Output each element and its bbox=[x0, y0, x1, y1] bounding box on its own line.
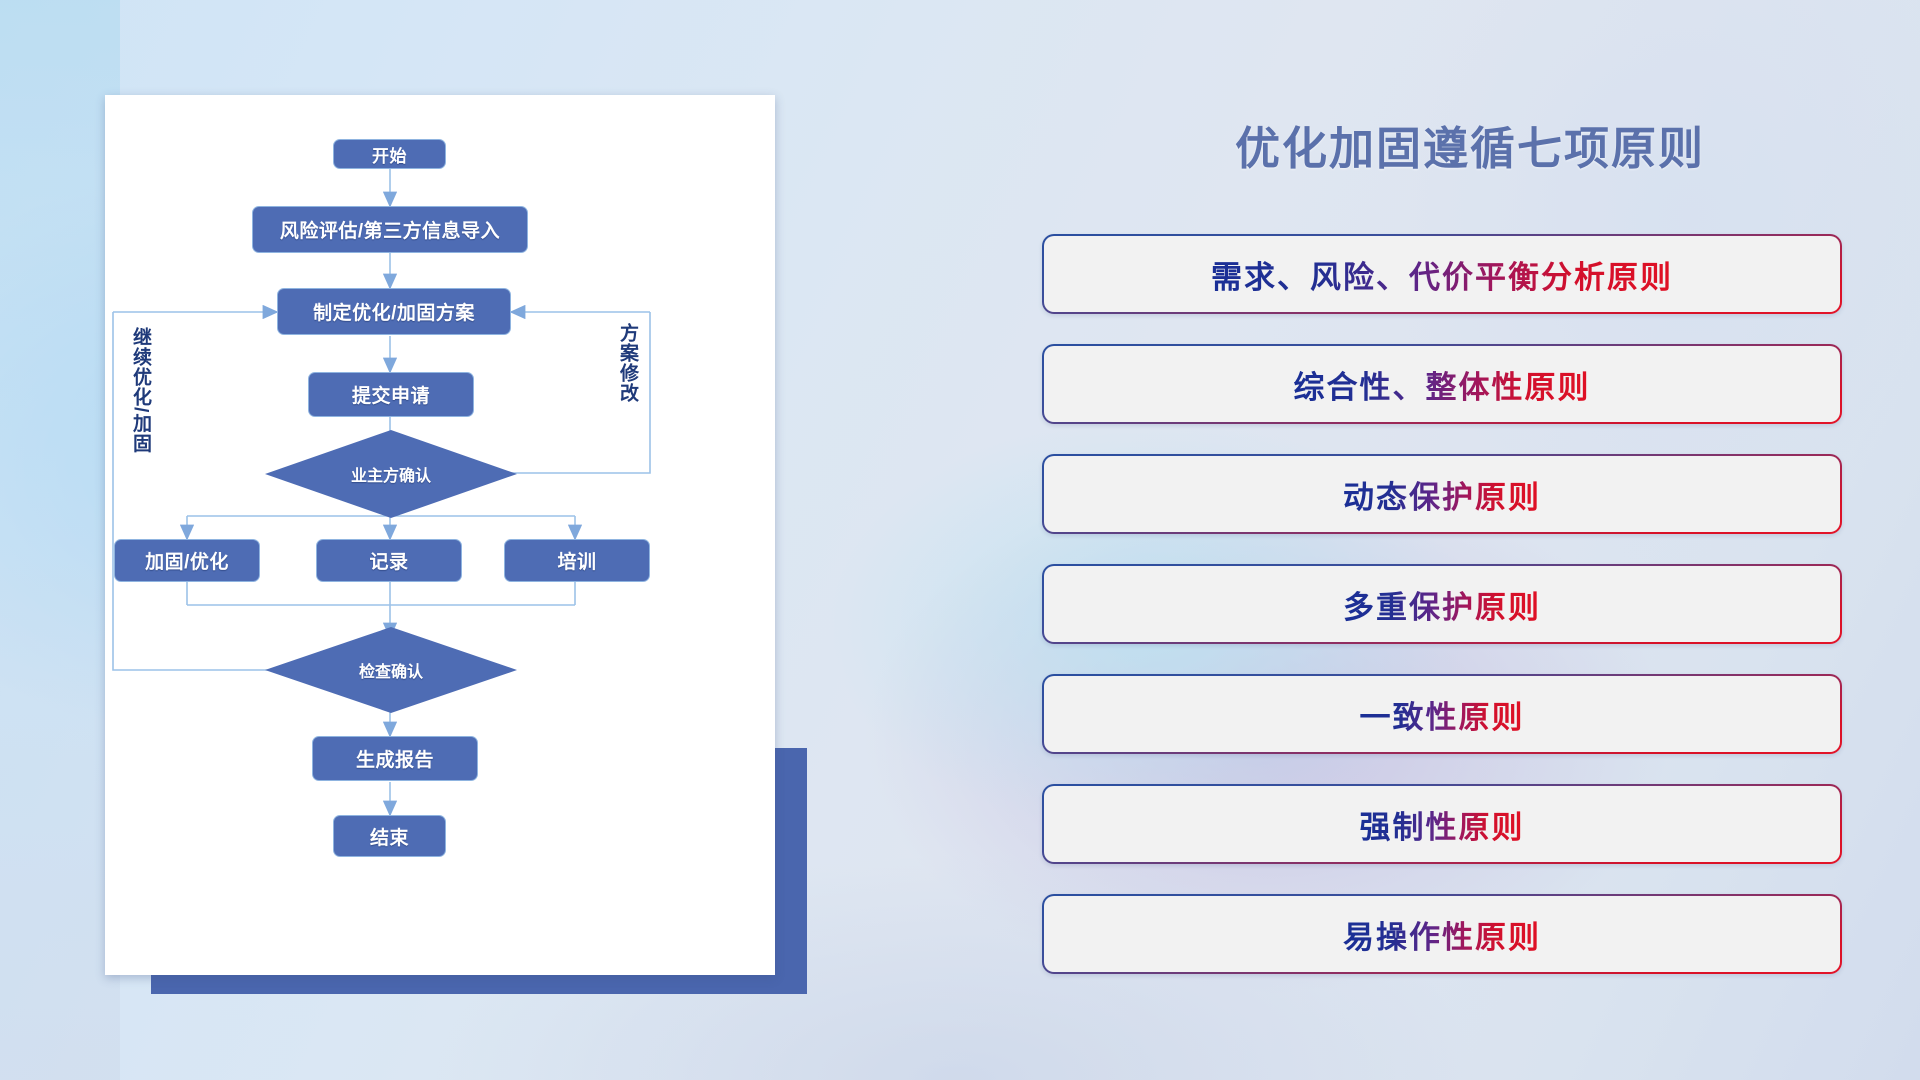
flow-node-label: 培训 bbox=[557, 547, 596, 574]
principle-label: 动态保护原则 bbox=[1343, 472, 1541, 517]
principle-item[interactable]: 一致性原则 bbox=[1042, 674, 1842, 754]
flow-node-label: 记录 bbox=[369, 547, 408, 574]
principle-item[interactable]: 多重保护原则 bbox=[1042, 564, 1842, 644]
principle-label: 易操作性原则 bbox=[1343, 912, 1541, 957]
background-left-strip bbox=[0, 0, 120, 1080]
principle-label: 一致性原则 bbox=[1360, 692, 1525, 737]
flow-node-label: 提交申请 bbox=[352, 381, 430, 408]
principle-label: 多重保护原则 bbox=[1343, 582, 1541, 627]
flowchart-card: 开始 风险评估/第三方信息导入 制定优化/加固方案 提交申请 业主方确认 加固/… bbox=[105, 95, 775, 975]
flow-node-label: 生成报告 bbox=[356, 745, 434, 772]
principles-panel: 优化加固遵循七项原则 需求、风险、代价平衡分析原则 综合性、整体性原则 动态保护… bbox=[1020, 0, 1920, 1080]
flow-node-end: 结束 bbox=[333, 815, 446, 857]
flow-node-training: 培训 bbox=[504, 539, 650, 582]
flow-node-label: 结束 bbox=[370, 823, 409, 850]
principles-list: 需求、风险、代价平衡分析原则 综合性、整体性原则 动态保护原则 多重保护原则 一… bbox=[1042, 234, 1842, 1004]
flow-node-reinforce-optimize: 加固/优化 bbox=[114, 539, 260, 582]
principle-item[interactable]: 综合性、整体性原则 bbox=[1042, 344, 1842, 424]
flow-node-label: 制定优化/加固方案 bbox=[313, 298, 475, 325]
flow-node-risk-assessment: 风险评估/第三方信息导入 bbox=[252, 206, 528, 253]
flow-node-record: 记录 bbox=[316, 539, 462, 582]
flow-node-submit-application: 提交申请 bbox=[308, 372, 474, 417]
principle-item[interactable]: 动态保护原则 bbox=[1042, 454, 1842, 534]
flow-node-plan: 制定优化/加固方案 bbox=[277, 288, 511, 335]
principle-label: 需求、风险、代价平衡分析原则 bbox=[1211, 252, 1673, 297]
flow-node-label: 加固/优化 bbox=[145, 547, 229, 574]
flow-node-label: 风险评估/第三方信息导入 bbox=[280, 216, 500, 243]
principle-item[interactable]: 强制性原则 bbox=[1042, 784, 1842, 864]
panel-title: 优化加固遵循七项原则 bbox=[1020, 112, 1920, 177]
flow-node-label: 开始 bbox=[372, 142, 407, 167]
flow-node-label: 业主方确认 bbox=[351, 462, 431, 486]
flow-edge-label-continue-optimize: 继续优化/加固 bbox=[127, 327, 154, 453]
flow-node-label: 检查确认 bbox=[359, 658, 423, 682]
flow-node-generate-report: 生成报告 bbox=[312, 736, 478, 781]
flow-node-start: 开始 bbox=[333, 139, 446, 169]
flow-edge-label-plan-revision: 方案修改 bbox=[614, 323, 641, 403]
principle-item[interactable]: 易操作性原则 bbox=[1042, 894, 1842, 974]
principle-label: 强制性原则 bbox=[1360, 802, 1525, 847]
flowchart-diagram: 开始 风险评估/第三方信息导入 制定优化/加固方案 提交申请 业主方确认 加固/… bbox=[105, 95, 775, 975]
principle-item[interactable]: 需求、风险、代价平衡分析原则 bbox=[1042, 234, 1842, 314]
principle-label: 综合性、整体性原则 bbox=[1294, 362, 1591, 407]
